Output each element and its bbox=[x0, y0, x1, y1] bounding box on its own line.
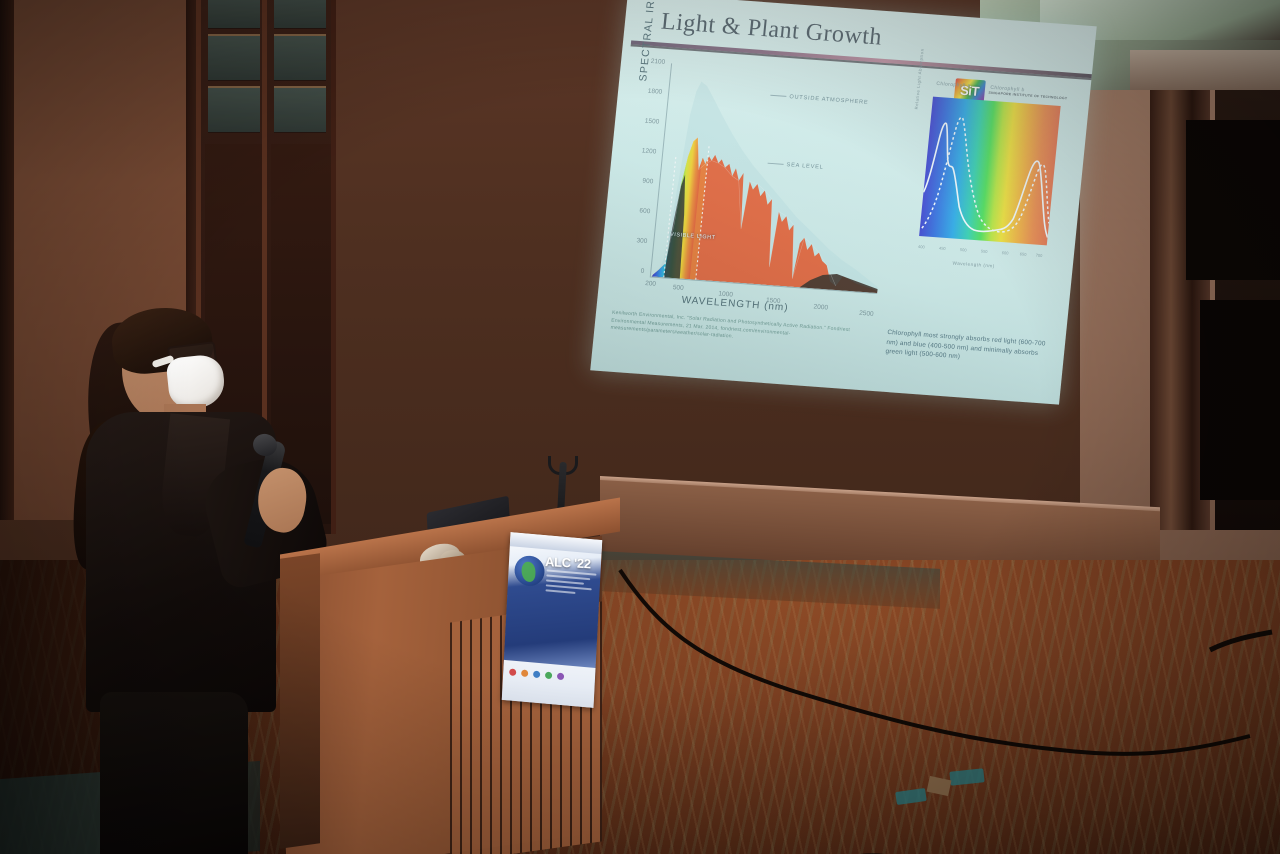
chart1-y-tick: 1200 bbox=[630, 147, 657, 156]
chart2-svg bbox=[919, 97, 1061, 246]
chart2-x-tick: 550 bbox=[981, 249, 988, 254]
chart2-y-axis-label: Relative Light Absorption bbox=[914, 0, 931, 110]
chart1-y-tick: 1500 bbox=[633, 117, 660, 126]
projection-screen: Light & Plant Growth SiT SINGAPORE INSTI… bbox=[589, 0, 1096, 415]
event-poster: ALC '22 bbox=[502, 532, 602, 708]
solar-irradiance-chart: SPECTRAL IRRADIANCE (Wm⁻²μm⁻¹) 2100 1800… bbox=[619, 55, 911, 323]
globe-icon bbox=[514, 555, 545, 588]
chart2-x-tick: 450 bbox=[939, 245, 946, 250]
chart1-y-tick: 900 bbox=[627, 176, 654, 185]
ceiling-soffit bbox=[1130, 50, 1280, 90]
chart1-x-tick: 500 bbox=[672, 284, 684, 292]
chart2-x-axis-label: Wavelength (nm) bbox=[952, 261, 995, 269]
chart1-x-tick: 200 bbox=[645, 280, 657, 288]
door-glass-pane bbox=[274, 34, 326, 81]
door-glass-pane bbox=[274, 0, 326, 29]
slide-caption: Chlorophyll most strongly absorbs red li… bbox=[885, 328, 1047, 368]
chart1-y-tick: 300 bbox=[621, 236, 648, 245]
poster-title: ALC '22 bbox=[545, 554, 591, 571]
conference-room-scene: Light & Plant Growth SiT SINGAPORE INSTI… bbox=[0, 0, 1280, 854]
chlorophyll-b-curve bbox=[922, 115, 1059, 237]
right-doorway-upper bbox=[1186, 120, 1280, 280]
chart1-x-tick: 2500 bbox=[859, 310, 874, 318]
slide-surface: Light & Plant Growth SiT SINGAPORE INSTI… bbox=[590, 0, 1096, 405]
chart2-legend-item-a: Chlorophyll a bbox=[936, 81, 971, 89]
chart1-y-tick: 600 bbox=[624, 206, 651, 215]
chart2-plot-area bbox=[919, 97, 1061, 246]
poster-text-lines bbox=[545, 569, 596, 598]
door-glass-pane bbox=[208, 34, 260, 81]
podium-side bbox=[280, 553, 320, 849]
chart1-y-tick: 1800 bbox=[636, 87, 663, 96]
chart1-plot-area: VISIBLE LIGHT OUTSIDE ATMOSPHERE SEA LEV… bbox=[650, 63, 899, 293]
chart2-x-tick: 500 bbox=[960, 247, 967, 252]
door-glass-pane bbox=[208, 0, 260, 29]
chlorophyll-absorption-chart: Chlorophyll a Chlorophyll b Relative Lig… bbox=[900, 91, 1069, 281]
chart2-x-tick: 600 bbox=[1002, 250, 1009, 255]
chart1-x-tick: 2000 bbox=[813, 303, 828, 311]
door-glass-pane bbox=[274, 86, 326, 133]
door-glass-pane bbox=[208, 86, 260, 133]
poster-footer-band bbox=[502, 660, 596, 708]
right-doorway-lower bbox=[1200, 300, 1280, 500]
face-mask bbox=[165, 353, 226, 411]
chart1-y-tick: 0 bbox=[618, 266, 645, 275]
chart2-x-tick: 400 bbox=[918, 244, 925, 249]
legs bbox=[100, 692, 248, 854]
chart2-x-tick: 700 bbox=[1035, 253, 1042, 258]
podium: ALC '22 bbox=[280, 492, 620, 854]
chart2-x-tick: 650 bbox=[1020, 251, 1027, 256]
chlorophyll-a-curve bbox=[920, 122, 1058, 237]
